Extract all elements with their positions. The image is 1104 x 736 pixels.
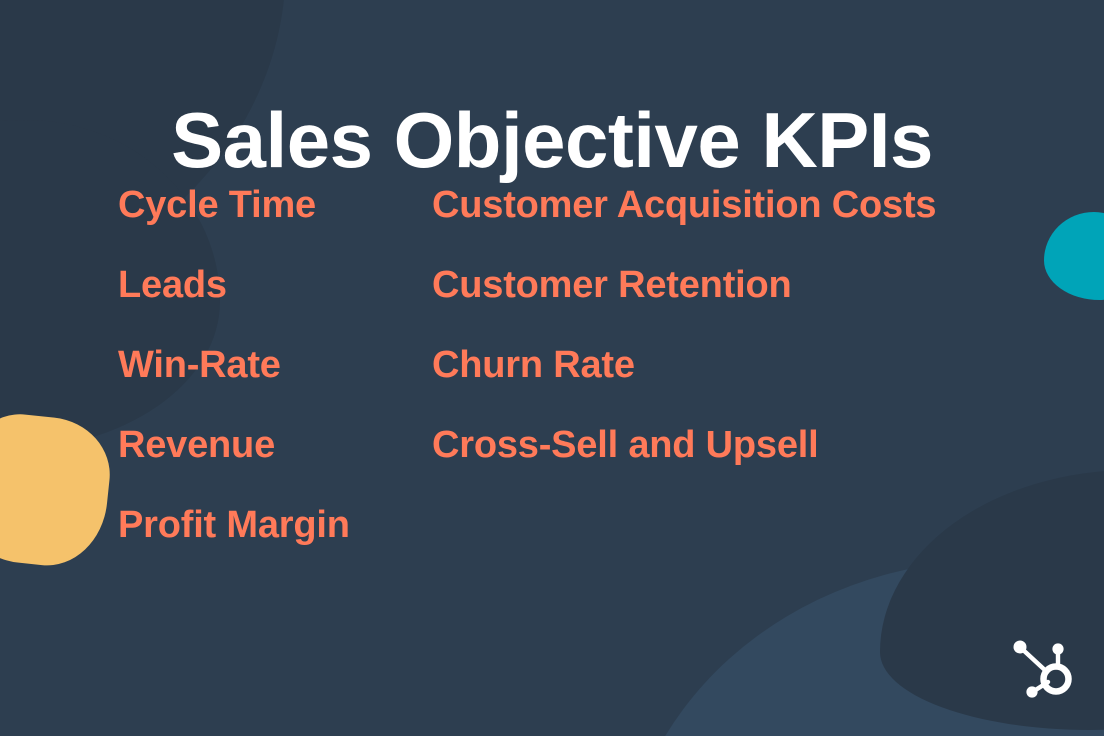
- list-item: Win-Rate: [118, 346, 350, 426]
- list-item: Customer Retention: [432, 266, 936, 346]
- hubspot-sprocket-logo-icon: [1006, 634, 1078, 706]
- list-item: Cycle Time: [118, 186, 350, 266]
- kpi-column-left: Cycle Time Leads Win-Rate Revenue Profit…: [118, 186, 350, 586]
- slide-content: Sales Objective KPIs Cycle Time Leads Wi…: [0, 0, 1104, 736]
- slide-canvas: Sales Objective KPIs Cycle Time Leads Wi…: [0, 0, 1104, 736]
- kpi-column-right: Customer Acquisition Costs Customer Rete…: [432, 186, 936, 506]
- list-item: Customer Acquisition Costs: [432, 186, 936, 266]
- list-item: Leads: [118, 266, 350, 346]
- list-item: Profit Margin: [118, 506, 350, 586]
- list-item: Revenue: [118, 426, 350, 506]
- list-item: Churn Rate: [432, 346, 936, 426]
- page-title: Sales Objective KPIs: [0, 100, 1104, 182]
- list-item: Cross-Sell and Upsell: [432, 426, 936, 506]
